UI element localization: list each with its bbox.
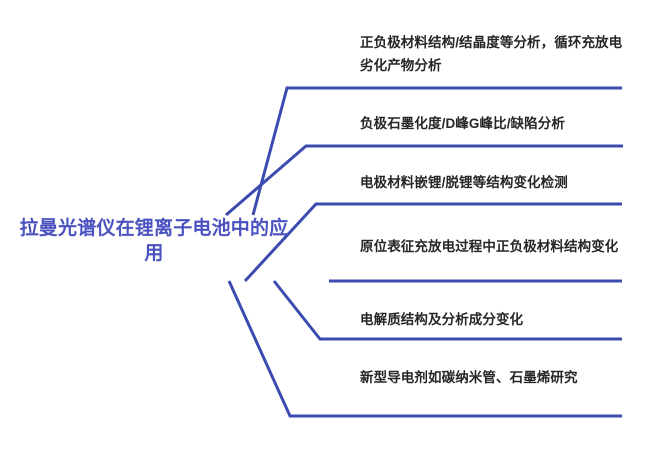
branch-label-4: 原位表征充放电过程中正负极材料结构变化 bbox=[360, 235, 628, 258]
branch-label-6: 新型导电剂如碳纳米管、石墨烯研究 bbox=[360, 366, 628, 389]
branch-label-2: 负极石墨化度/D峰G峰比/缺陷分析 bbox=[360, 112, 628, 135]
branch-label-5: 电解质结构及分析成分变化 bbox=[360, 308, 628, 331]
branch-label-1: 正负极材料结构/结晶度等分析，循环充放电劣化产物分析 bbox=[360, 31, 628, 77]
diagram-canvas: 拉曼光谱仪在锂离子电池中的应用 正负极材料结构/结晶度等分析，循环充放电劣化产物… bbox=[0, 0, 650, 449]
root-title: 拉曼光谱仪在锂离子电池中的应用 bbox=[18, 216, 290, 266]
connector-branch-1 bbox=[253, 88, 622, 215]
connector-branch-6 bbox=[229, 281, 622, 416]
branch-label-3: 电极材料嵌锂/脱锂等结构变化检测 bbox=[360, 171, 628, 194]
